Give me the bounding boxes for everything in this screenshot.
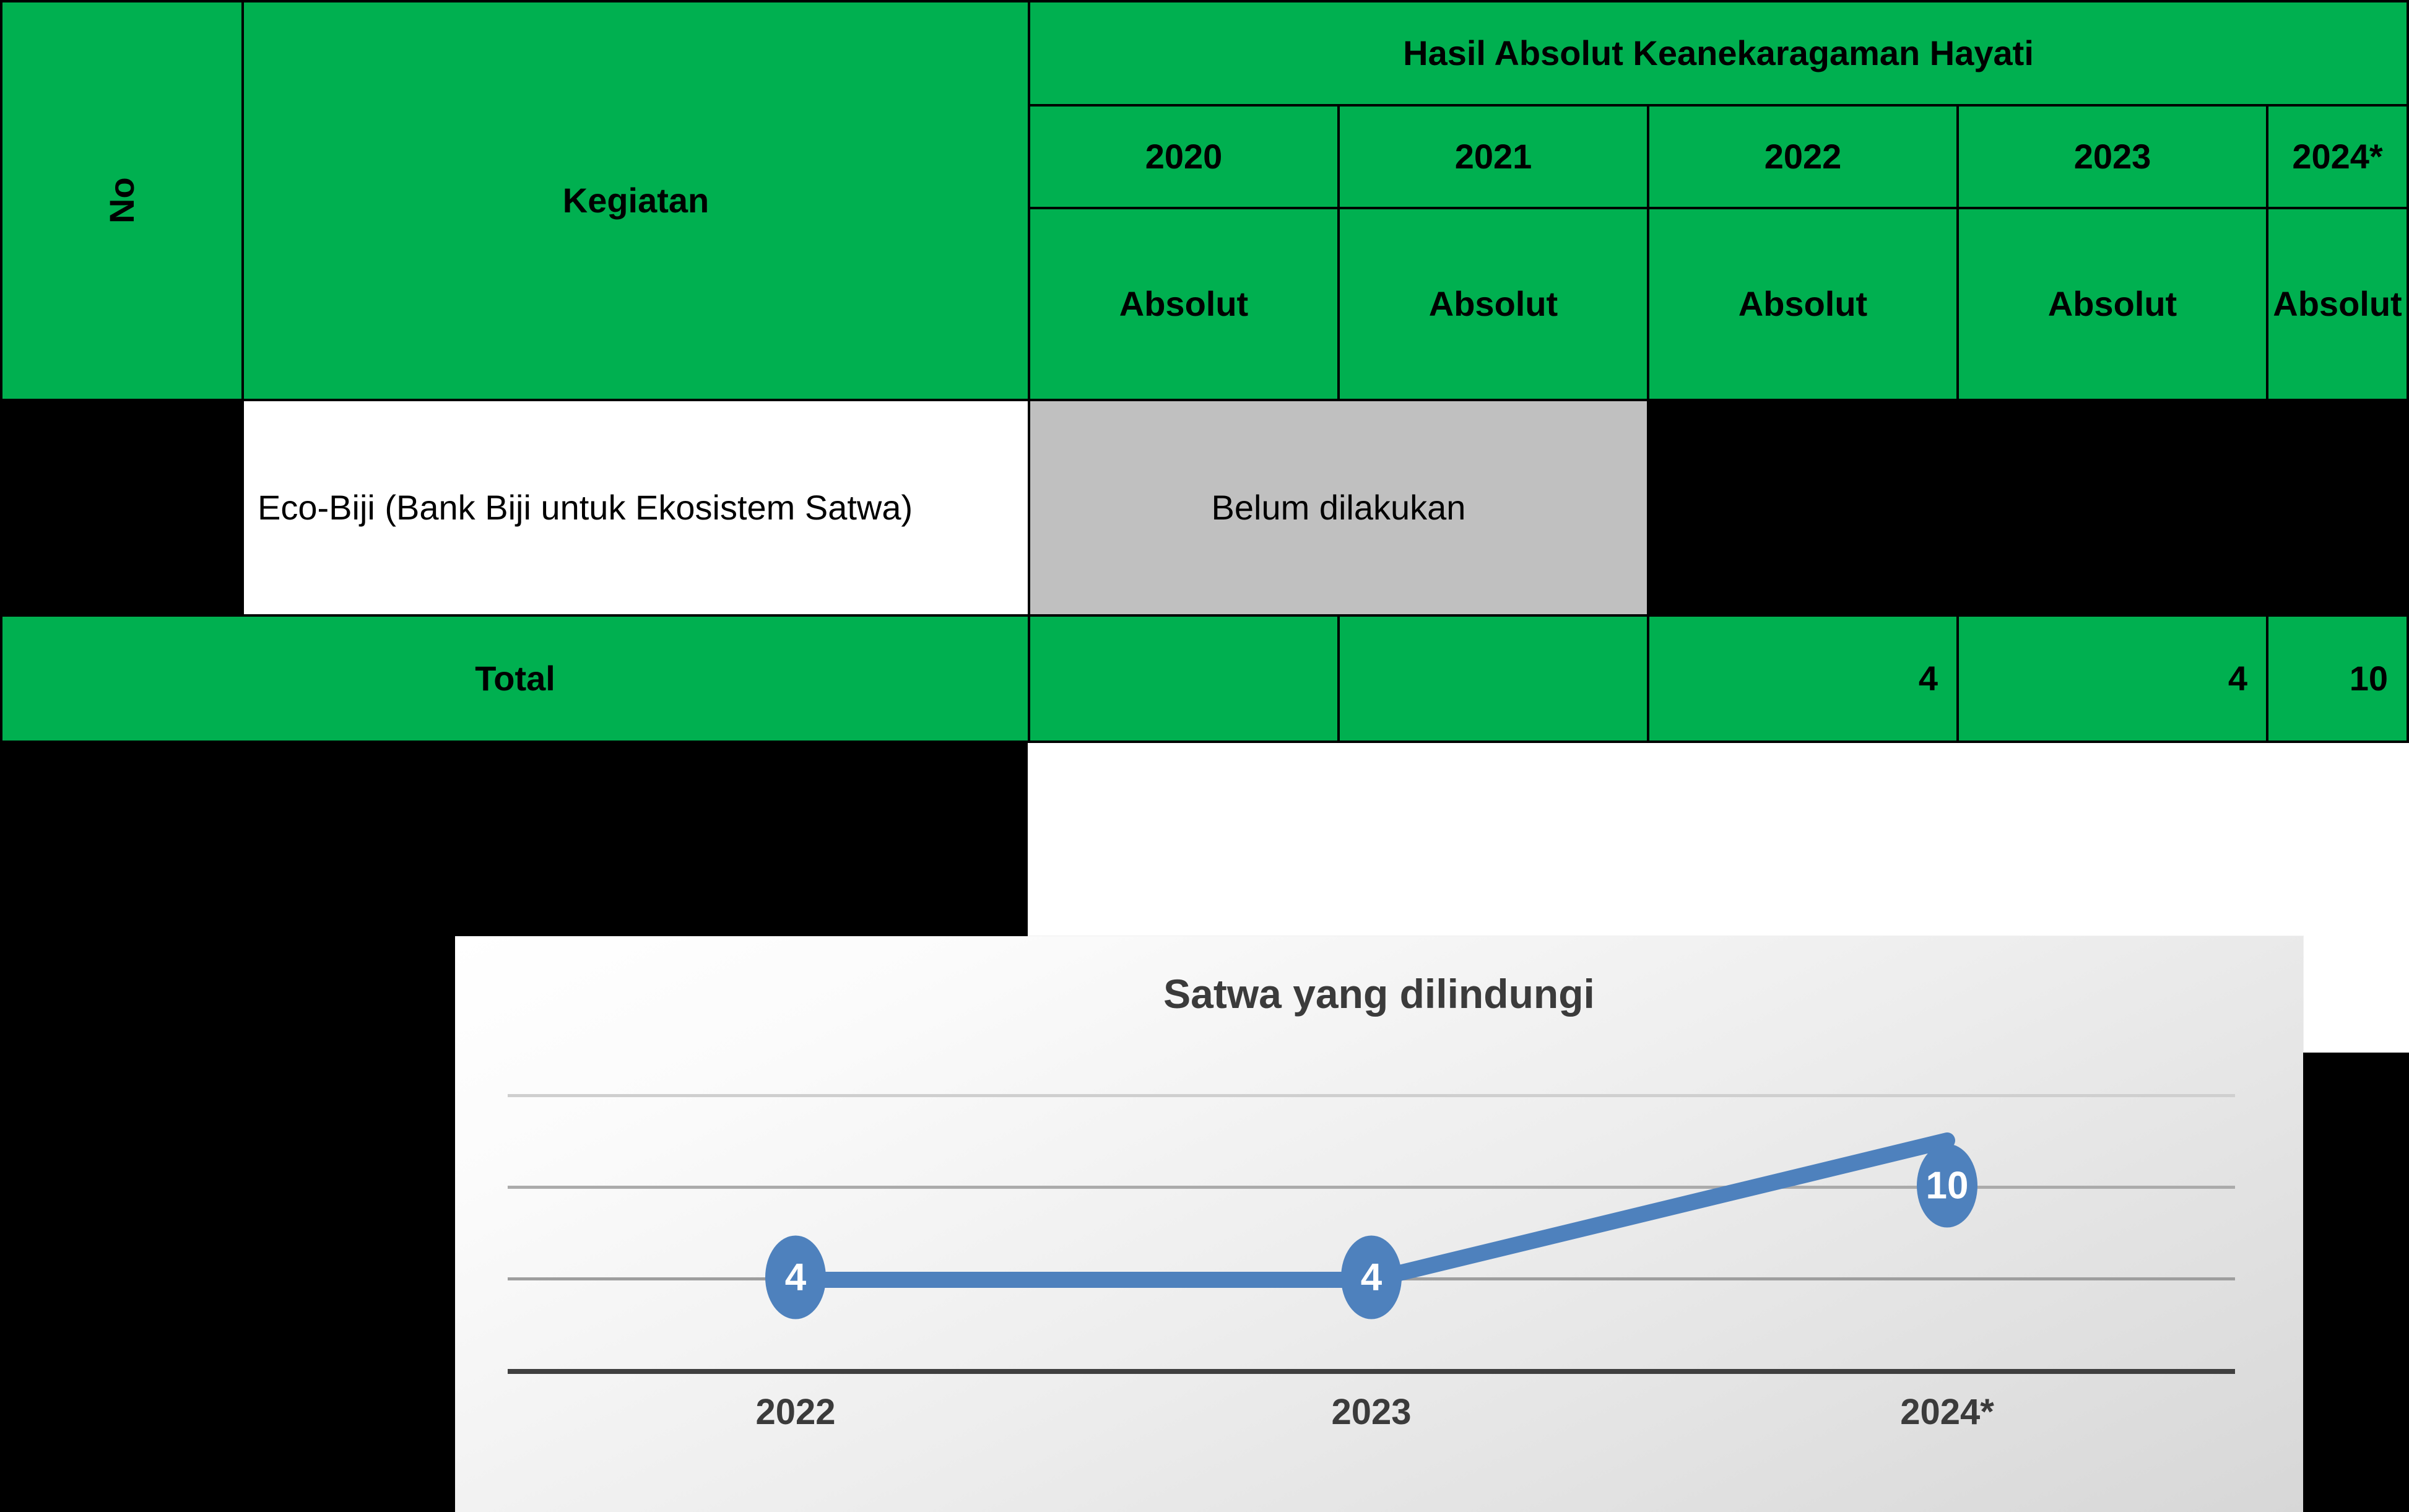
header-year-2020: 2020 <box>1028 104 1340 209</box>
row-value-2024-8: 10 <box>2266 399 2409 617</box>
subheader-absolut-2024: Absolut <box>2266 207 2409 401</box>
header-kegiatan: Kegiatan <box>241 0 1030 401</box>
subheader-absolut-2022: Absolut <box>1647 207 1959 401</box>
chart-plot-area: 4 4 10 <box>508 1094 2235 1373</box>
total-value-2020 <box>1028 614 1340 743</box>
x-tick-2022: 2022 <box>755 1391 835 1433</box>
total-value-2022: 4 <box>1647 614 1959 743</box>
biodiversity-table: No Kegiatan Hasil Absolut Keanekaragaman… <box>0 0 2409 743</box>
data-point-2023[interactable]: 4 <box>1341 1236 1402 1319</box>
total-value-2021 <box>1337 614 1649 743</box>
header-year-2021: 2021 <box>1337 104 1649 209</box>
header-group-title: Hasil Absolut Keanekaragaman Hayati <box>1028 0 2409 106</box>
total-value-2023: 4 <box>1956 614 2268 743</box>
data-point-2024[interactable]: 10 <box>1917 1144 1977 1228</box>
x-tick-2024: 2024* <box>1900 1391 1994 1433</box>
total-value-2024: 10 <box>2266 614 2409 743</box>
header-no: No <box>0 0 244 401</box>
x-tick-2023: 2023 <box>1331 1391 1411 1433</box>
subheader-absolut-2020: Absolut <box>1028 207 1340 401</box>
row-value-2023-8: 4 <box>1956 399 2268 617</box>
row-value-2022-8: 4 <box>1647 399 1959 617</box>
chart-series-line <box>508 1094 2235 1373</box>
slide-canvas: No Kegiatan Hasil Absolut Keanekaragaman… <box>0 0 2409 1512</box>
data-point-2022[interactable]: 4 <box>765 1236 826 1319</box>
background-black-lower-right <box>2303 1053 2409 1512</box>
subheader-absolut-2021: Absolut <box>1337 207 1649 401</box>
table-footnote: *Januari-Juni 2024 <box>9 754 999 810</box>
chart-title: Satwa yang dilindungi <box>455 970 2303 1017</box>
row-merged-note-8: Belum dilakukan <box>1028 399 1649 617</box>
line-chart-satwa-dilindungi: Satwa yang dilindungi 4 4 10 2022 2023 2… <box>455 936 2303 1512</box>
total-label: Total <box>0 614 1030 743</box>
row-no-8: 8 <box>0 399 244 617</box>
row-kegiatan-8: Eco-Biji (Bank Biji untuk Ekosistem Satw… <box>241 399 1030 617</box>
header-year-2023: 2023 <box>1956 104 2268 209</box>
chart-x-axis: 2022 2023 2024* <box>508 1391 2235 1466</box>
subheader-absolut-2023: Absolut <box>1956 207 2268 401</box>
header-year-2022: 2022 <box>1647 104 1959 209</box>
header-year-2024: 2024* <box>2266 104 2409 209</box>
